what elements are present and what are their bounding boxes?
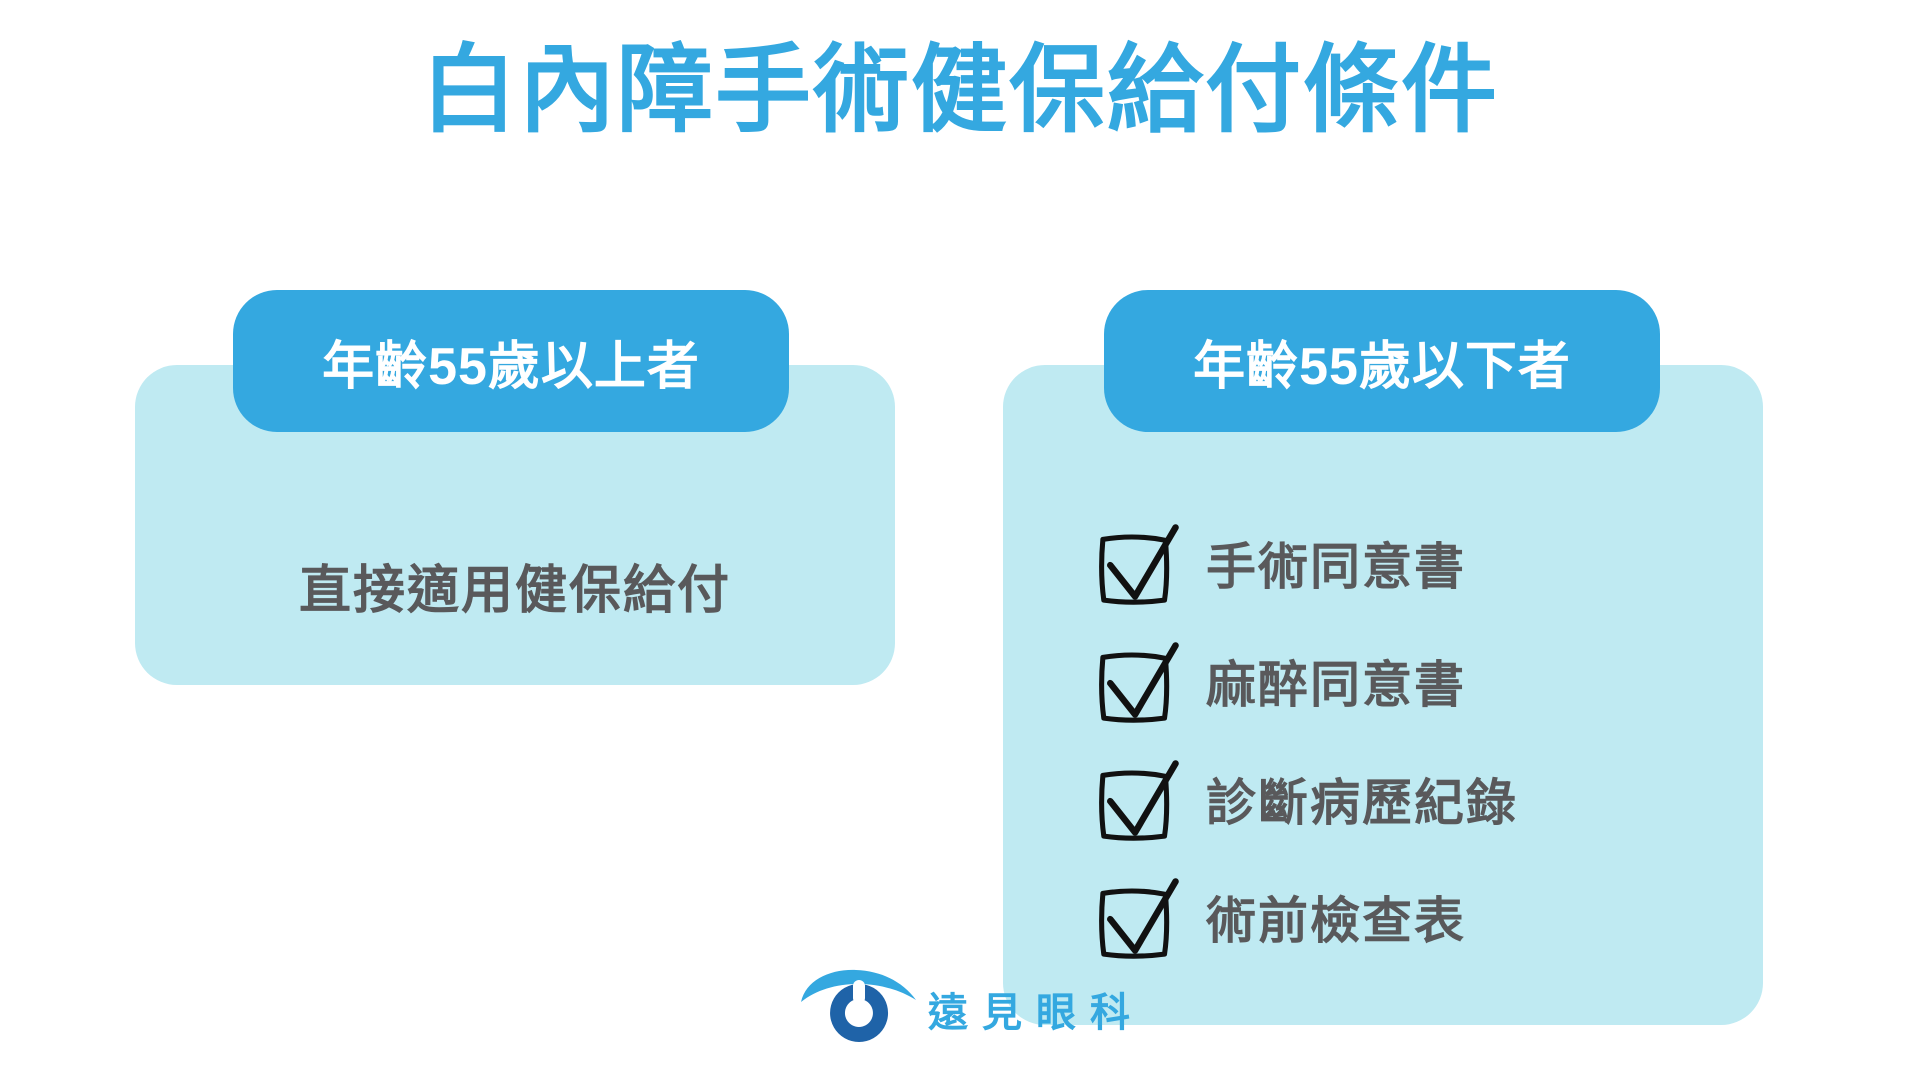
card-header-label: 年齡55歲以下者 bbox=[1193, 324, 1571, 399]
card-header-age-55-and-above: 年齡55歲以上者 bbox=[233, 290, 789, 432]
checkbox-checked-icon bbox=[1090, 757, 1206, 849]
list-item: 手術同意書 bbox=[1090, 508, 1750, 626]
list-item: 診斷病歷紀錄 bbox=[1090, 744, 1750, 862]
list-item-label: 術前檢查表 bbox=[1206, 896, 1466, 946]
left-card-body-text: 直接適用健保給付 bbox=[299, 562, 731, 620]
card-body-age-55-and-above: 直接適用健保給付 bbox=[135, 548, 895, 623]
card-header-age-55-and-below: 年齡55歲以下者 bbox=[1104, 290, 1660, 432]
clinic-logo-text: 遠見眼科 bbox=[928, 980, 1144, 1038]
required-documents-checklist: 手術同意書 麻醉同意書 診斷病歷紀錄 bbox=[1090, 508, 1750, 980]
page-title: 白內障手術健保給付條件 bbox=[0, 36, 1920, 146]
checkbox-checked-icon bbox=[1090, 875, 1206, 967]
list-item: 麻醉同意書 bbox=[1090, 626, 1750, 744]
list-item-label: 診斷病歷紀錄 bbox=[1206, 778, 1518, 828]
eye-logo-icon bbox=[800, 968, 918, 1050]
checkbox-checked-icon bbox=[1090, 639, 1206, 731]
list-item: 術前檢查表 bbox=[1090, 862, 1750, 980]
list-item-label: 麻醉同意書 bbox=[1206, 660, 1466, 710]
clinic-logo: 遠見眼科 bbox=[800, 968, 1144, 1050]
cards-container: 年齡55歲以上者 直接適用健保給付 年齡55歲以下者 手術同意書 bbox=[0, 290, 1920, 1050]
checkbox-checked-icon bbox=[1090, 521, 1206, 613]
card-header-label: 年齡55歲以上者 bbox=[322, 324, 700, 399]
list-item-label: 手術同意書 bbox=[1206, 542, 1466, 592]
